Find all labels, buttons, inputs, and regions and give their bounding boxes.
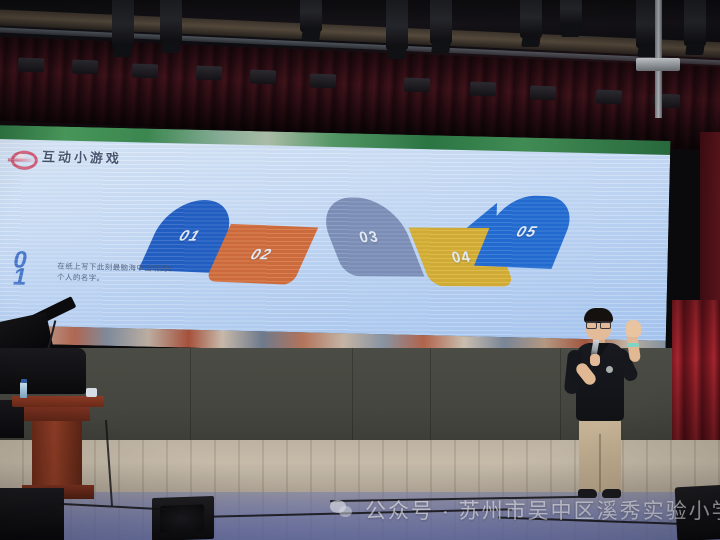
step-label-04: 04 — [448, 248, 475, 266]
presenter — [560, 310, 670, 500]
step-label-02: 02 — [248, 246, 275, 263]
shirt-emblem-icon — [606, 366, 613, 373]
presenter-raised-hand — [626, 320, 641, 337]
watermark-text: 公众号 · 苏州市吴中区溪秀实验小学 — [365, 495, 720, 525]
slide-description: 在纸上写下此刻最脑海中出现的5个人的名字。 — [57, 261, 177, 286]
stage-light-head — [530, 86, 556, 101]
stage-light-head — [72, 60, 98, 75]
ceiling-area — [0, 0, 720, 132]
stage-light-head — [404, 78, 430, 93]
pole-fixture-head — [636, 58, 680, 71]
presenter-leg-seam — [599, 434, 601, 492]
podium-neck — [24, 407, 90, 421]
stage-monitor-speaker — [0, 488, 64, 540]
stage-photograph: 互动小游戏 01 02 03 04 05 0 1 在纸上写下 — [0, 0, 720, 540]
water-bottle-cap — [21, 379, 27, 383]
spotlight-fixture — [112, 0, 134, 48]
stage-light-head — [470, 82, 496, 97]
spotlight-fixture — [300, 0, 322, 32]
section-number-bottom: 1 — [13, 268, 27, 285]
section-number: 0 1 — [13, 252, 27, 286]
slide-title: 互动小游戏 — [42, 146, 122, 167]
stage-light-head — [196, 66, 222, 81]
watermark: 公众号 · 苏州市吴中区溪秀实验小学 — [330, 495, 720, 525]
water-bottle — [20, 382, 27, 398]
podium-column — [32, 421, 82, 493]
grand-piano-body — [0, 348, 86, 394]
spotlight-fixture — [430, 0, 452, 44]
presenter-wristband — [627, 343, 639, 347]
stage-light-head — [132, 64, 158, 79]
spotlight-fixture — [520, 0, 542, 38]
side-curtain-shadow — [700, 132, 720, 307]
spotlight-fixture — [386, 0, 408, 50]
spotlight-fixture — [560, 0, 582, 28]
glasses-icon — [586, 321, 611, 328]
stage-light-head — [596, 90, 622, 105]
red-ring-logo-icon — [8, 148, 36, 166]
stage-light-head — [250, 70, 276, 85]
stage-light-head — [18, 58, 44, 73]
step-label-05: 05 — [514, 223, 540, 240]
wechat-bubble-icon — [330, 499, 356, 521]
step-shape-03: 03 — [314, 197, 424, 276]
step-label-03: 03 — [356, 228, 383, 246]
podium-object — [86, 388, 97, 397]
spotlight-fixture — [160, 0, 182, 44]
stage-light-head — [310, 74, 336, 89]
presenter-hand-with-mic — [590, 354, 600, 366]
spotlight-fixture — [684, 0, 706, 46]
stage-monitor-speaker — [152, 496, 214, 540]
step-label-01: 01 — [177, 227, 204, 244]
